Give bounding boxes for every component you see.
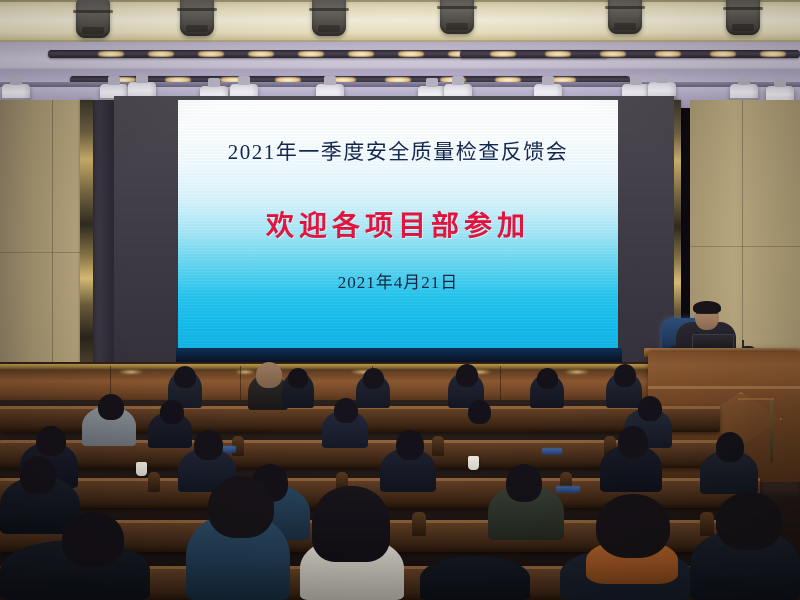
audience-head: [614, 364, 636, 387]
audience-head: [506, 464, 542, 502]
device-screen: [542, 448, 562, 455]
audience-head: [20, 456, 56, 494]
audience-head: [36, 426, 66, 456]
bench-armrest: [148, 472, 160, 492]
audience-person: [420, 556, 530, 600]
audience-head: [363, 368, 384, 389]
cove-lamp-icon: [180, 0, 214, 36]
audience-head: [160, 400, 184, 424]
ceiling-cove: [0, 0, 800, 42]
audience-head: [288, 368, 308, 388]
audience-head-foreground: [208, 476, 274, 538]
ceiling-light-strip: [460, 50, 800, 58]
slide-welcome-text: 欢迎各项目部参加: [178, 204, 618, 244]
audience-head: [194, 430, 223, 460]
podium-trim: [648, 386, 800, 389]
bench-armrest: [412, 512, 426, 536]
bench-armrest: [432, 436, 444, 456]
wall-gold-strip-left: [80, 100, 93, 370]
audience-head-bald: [256, 362, 282, 388]
bench-armrest: [700, 512, 714, 536]
audience-head: [638, 396, 662, 421]
audience-head: [537, 368, 558, 389]
device-screen: [556, 486, 580, 493]
audience-head: [468, 400, 491, 424]
paper-cup: [468, 456, 479, 470]
cove-lamp-icon: [76, 0, 110, 38]
stanchion-post: [770, 400, 773, 462]
conference-hall-photo: 2021年一季度安全质量检查反馈会 欢迎各项目部参加 2021年4月21日: [0, 0, 800, 600]
slide-title: 2021年一季度安全质量检查反馈会: [178, 136, 618, 166]
speaker-glasses-icon: [696, 313, 718, 317]
audience-head-foreground: [312, 486, 390, 562]
projection-screen: 2021年一季度安全质量检查反馈会 欢迎各项目部参加 2021年4月21日: [178, 100, 618, 350]
slide-date: 2021年4月21日: [178, 268, 618, 293]
wall-panel-seam: [690, 246, 800, 247]
audience-head: [396, 430, 424, 460]
audience-head-foreground: [596, 494, 670, 558]
audience-head: [174, 366, 196, 388]
audience-head: [334, 398, 358, 423]
cove-lamp-icon: [312, 0, 346, 36]
audience-head: [456, 364, 478, 387]
paper-cup: [136, 462, 147, 476]
cove-seam-top: [0, 0, 800, 2]
cove-lamp-icon: [726, 0, 760, 35]
audience-head-foreground: [716, 492, 782, 550]
audience-head: [98, 394, 124, 420]
audience-head: [618, 426, 648, 458]
cove-lamp-icon: [608, 0, 642, 34]
audience-head: [716, 432, 744, 462]
audience-head-foreground: [62, 512, 124, 566]
cove-lamp-icon: [440, 0, 474, 34]
